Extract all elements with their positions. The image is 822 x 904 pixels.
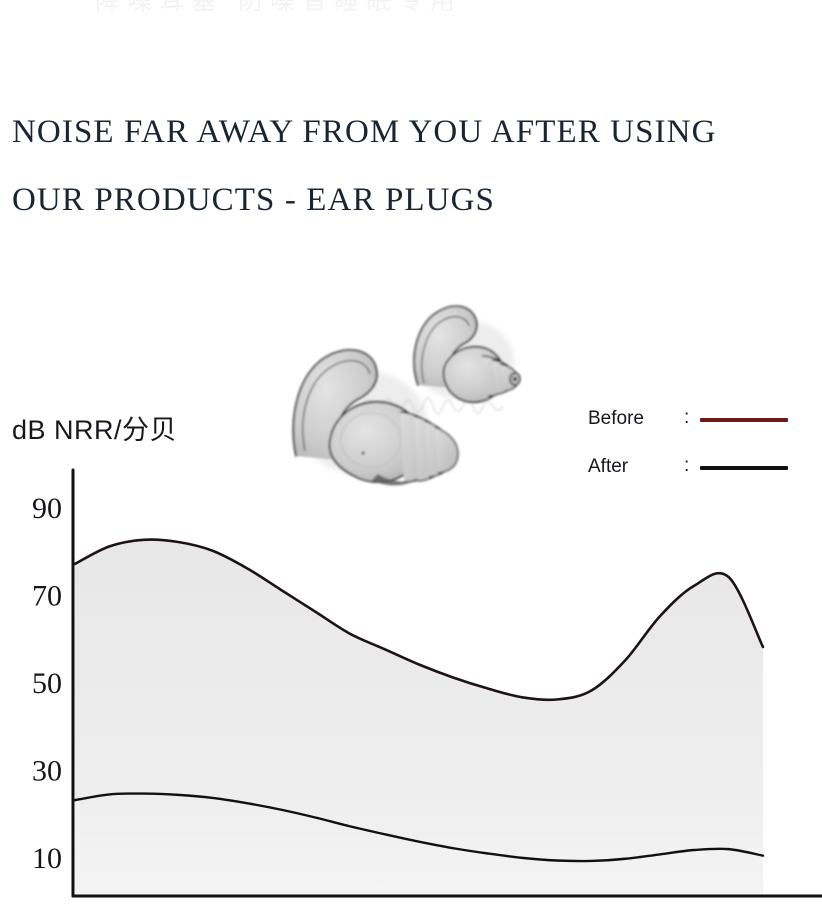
headline-line-1: NOISE FAR AWAY FROM YOU AFTER USING: [12, 98, 818, 166]
y-tick-label: 50: [32, 667, 62, 700]
y-tick-label: 10: [32, 842, 62, 875]
legend-label-before: Before: [588, 408, 644, 430]
top-banner-strip: 降噪耳塞 防噪音睡眠专用: [0, 0, 822, 16]
y-axis-tick-labels: 1030507090: [32, 492, 62, 875]
y-axis-title: dB NRR/分贝: [12, 408, 177, 447]
headline-line-2: OUR PRODUCTS - EAR PLUGS: [12, 166, 818, 234]
y-tick-label: 70: [32, 580, 62, 613]
legend-item-before[interactable]: Before :: [588, 404, 793, 452]
y-tick-label: 30: [32, 755, 62, 788]
legend-swatch-before: [700, 418, 788, 422]
noise-reduction-chart: 1030507090: [0, 460, 822, 904]
legend-separator-before: :: [684, 407, 689, 429]
page-title: NOISE FAR AWAY FROM YOU AFTER USING OUR …: [12, 98, 818, 234]
y-tick-label: 90: [32, 492, 62, 525]
top-banner-text: 降噪耳塞 防噪音睡眠专用: [95, 0, 462, 16]
